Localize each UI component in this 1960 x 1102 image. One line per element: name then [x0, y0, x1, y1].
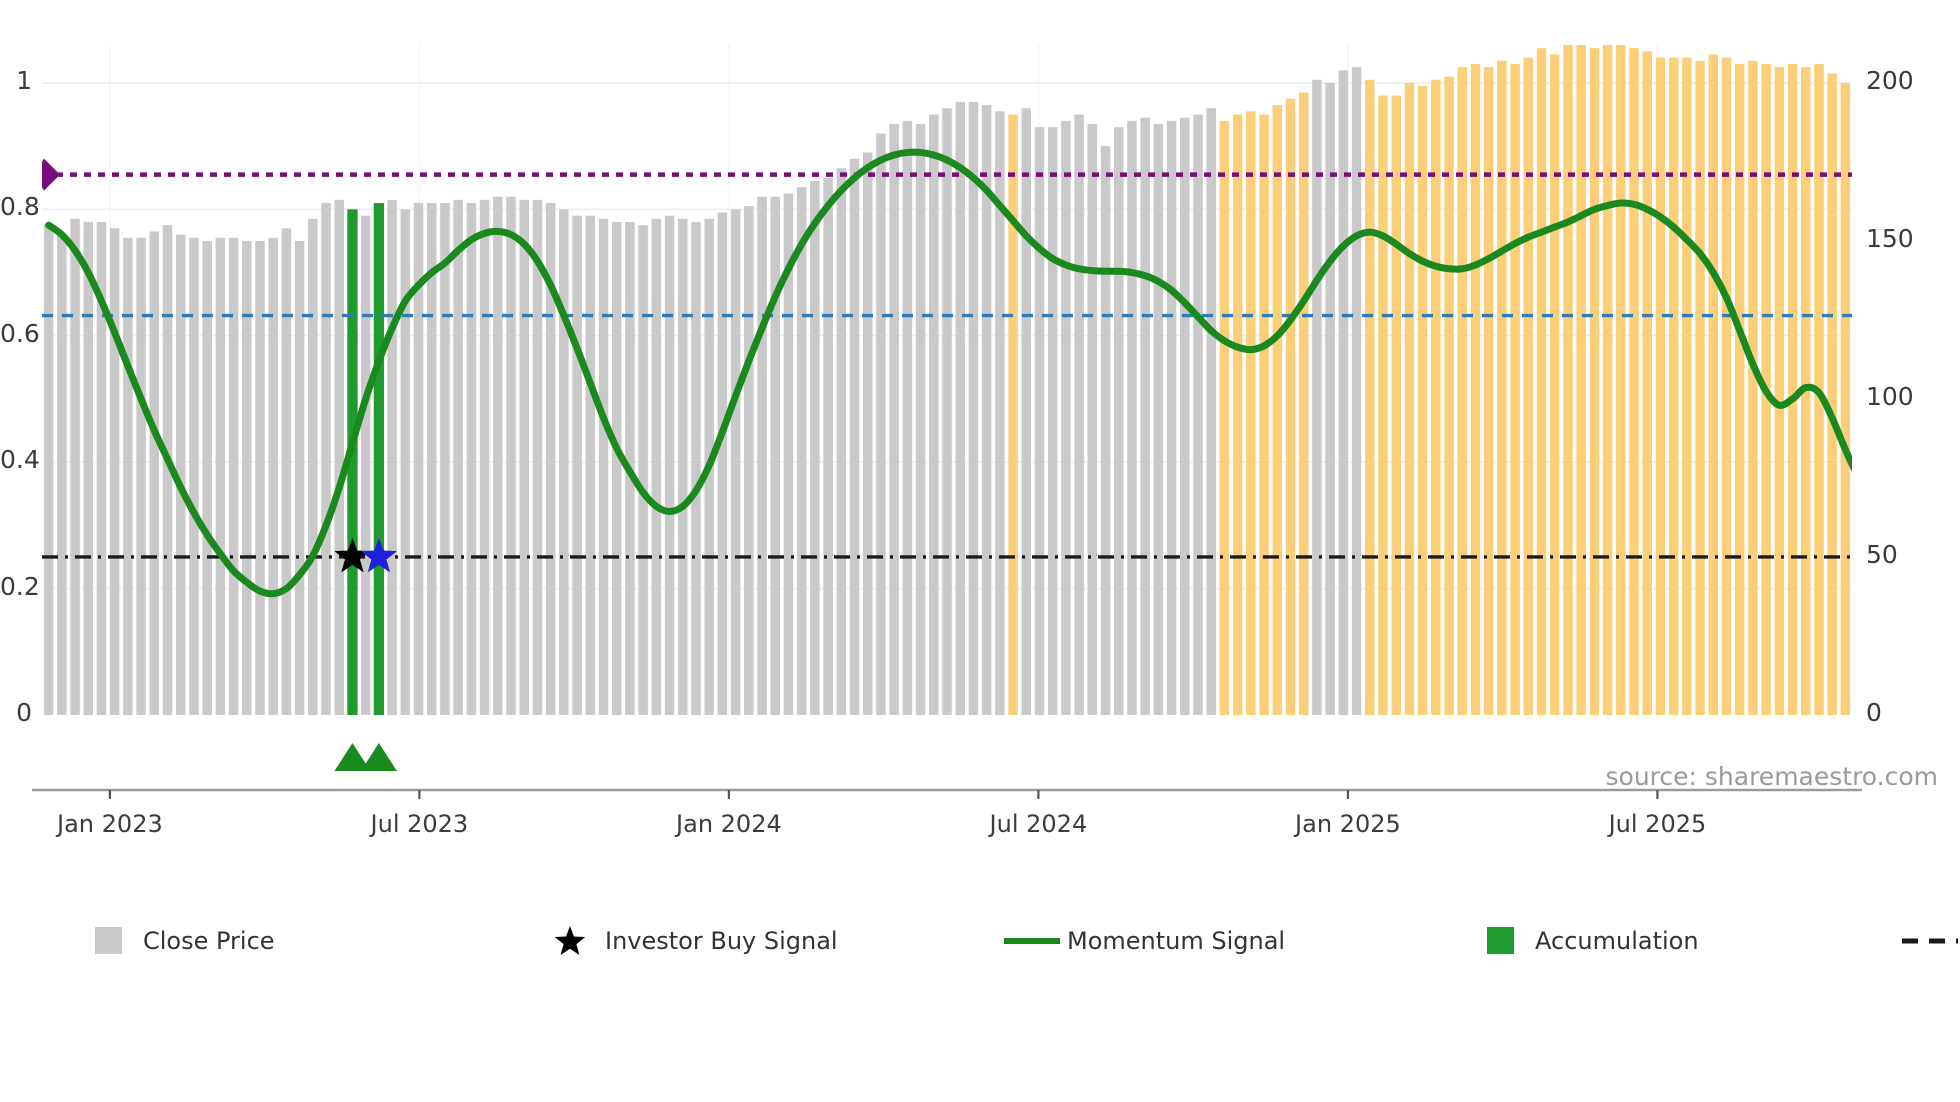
bar-close-price: [823, 178, 833, 715]
bar-close-price: [150, 231, 160, 715]
bar-close-price: [718, 213, 728, 716]
bar-close-price: [612, 222, 622, 715]
bar-close-price: [1154, 124, 1164, 715]
bar-close-price: [1352, 67, 1362, 715]
plot-area: [42, 45, 1852, 715]
bar-dtl-breached: [1497, 61, 1507, 715]
demand-threshold-marker-icon: [42, 159, 60, 191]
bar-close-price: [863, 152, 873, 715]
bar-close-price: [1127, 121, 1137, 715]
y-axis-right-tick: 200: [1866, 66, 1914, 95]
bar-close-price: [955, 102, 965, 715]
bar-close-price: [770, 197, 780, 715]
bar-dtl-breached: [1458, 67, 1468, 715]
y-axis-right-tick: 50: [1866, 540, 1898, 569]
bar-close-price: [1339, 70, 1349, 715]
y-axis-left-tick: 0.8: [0, 192, 32, 221]
bar-close-price: [1088, 124, 1098, 715]
bar-close-price: [903, 121, 913, 715]
accumulation-triangle-icon: [334, 743, 370, 771]
bar-close-price: [361, 216, 371, 715]
bar-close-price: [652, 219, 662, 715]
bar-close-price: [493, 197, 503, 715]
bar-close-price: [70, 219, 80, 715]
bar-close-price: [665, 216, 675, 715]
bar-close-price: [1035, 127, 1045, 715]
bar-close-price: [440, 203, 450, 715]
x-axis-tick-label: Jan 2024: [676, 810, 782, 838]
chart-legend: Close PriceInvestor Buy SignalMomentum S…: [78, 925, 1938, 956]
bar-dtl-breached: [1603, 45, 1613, 715]
bar-close-price: [1325, 83, 1335, 715]
bar-close-price: [586, 216, 596, 715]
bar-close-price: [480, 200, 490, 715]
close-price-bars: [44, 45, 1850, 715]
legend-item[interactable]: Momentum Signal: [1002, 925, 1470, 956]
legend-item[interactable]: Model Watching: [1900, 925, 1960, 956]
bar-close-price: [837, 168, 847, 715]
bar-close-price: [1114, 127, 1124, 715]
bar-close-price: [1206, 108, 1216, 715]
bar-close-price: [744, 206, 754, 715]
bar-close-price: [83, 222, 93, 715]
color-swatch: [95, 927, 122, 954]
bar-close-price: [255, 241, 265, 715]
bar-dtl-breached: [1656, 58, 1666, 715]
legend-item[interactable]: Investor Buy Signal: [540, 925, 1002, 956]
bar-close-price: [123, 238, 133, 715]
bar-dtl-breached: [1510, 64, 1520, 715]
source-note: source: sharemaestro.com: [1606, 762, 1939, 791]
bar-close-price: [387, 200, 397, 715]
bar-close-price: [731, 209, 741, 715]
bar-close-price: [638, 225, 648, 715]
bar-close-price: [110, 228, 120, 715]
bar-close-price: [268, 238, 278, 715]
bar-dtl-breached: [1246, 111, 1256, 715]
bar-close-price: [1193, 115, 1203, 715]
bar-dtl-breached: [1722, 58, 1732, 715]
legend-item[interactable]: Accumulation: [1470, 925, 1900, 956]
y-axis-left-tick: 0.6: [0, 319, 32, 348]
bar-dtl-breached: [1273, 105, 1283, 715]
legend-square-icon: [78, 926, 138, 956]
bar-close-price: [572, 216, 582, 715]
bar-close-price: [691, 222, 701, 715]
legend-line-icon: [1002, 926, 1062, 956]
bar-dtl-breached: [1550, 54, 1560, 715]
y-axis-left-tick: 1: [0, 66, 32, 95]
bar-close-price: [295, 241, 305, 715]
y-axis-right-tick: 100: [1866, 382, 1914, 411]
legend-label: Accumulation: [1530, 927, 1699, 955]
legend-label: Investor Buy Signal: [600, 927, 838, 955]
bar-close-price: [189, 238, 199, 715]
bar-dtl-breached: [1008, 115, 1018, 715]
bar-close-price: [136, 238, 146, 715]
color-swatch: [1487, 927, 1514, 954]
bar-dtl-breached: [1286, 99, 1296, 715]
y-axis-left-tick: 0.2: [0, 572, 32, 601]
bar-close-price: [889, 124, 899, 715]
bar-close-price: [453, 200, 463, 715]
bar-dtl-breached: [1576, 45, 1586, 715]
bar-close-price: [1022, 108, 1032, 715]
bar-close-price: [242, 241, 252, 715]
bar-dtl-breached: [1629, 48, 1639, 715]
bar-dtl-breached: [1695, 61, 1705, 715]
y-axis-right-tick: 0: [1866, 698, 1882, 727]
x-axis-tick-label: Jan 2025: [1295, 810, 1401, 838]
bar-dtl-breached: [1233, 115, 1243, 715]
bar-close-price: [308, 219, 318, 715]
bar-dtl-breached: [1537, 48, 1547, 715]
bar-close-price: [216, 238, 226, 715]
bar-close-price: [810, 181, 820, 715]
bar-close-price: [678, 219, 688, 715]
bar-close-price: [1101, 146, 1111, 715]
chart-canvas: [42, 45, 1852, 715]
bar-dtl-breached: [1259, 115, 1269, 715]
bar-dtl-breached: [1220, 121, 1230, 715]
bar-close-price: [44, 225, 54, 715]
bar-close-price: [506, 197, 516, 715]
bar-close-price: [229, 238, 239, 715]
accumulation-triangle-icon: [361, 743, 397, 771]
x-axis-tick-label: Jan 2023: [57, 810, 163, 838]
bar-close-price: [519, 200, 529, 715]
bar-dtl-breached: [1391, 96, 1401, 715]
bar-close-price: [757, 197, 767, 715]
bar-close-price: [57, 235, 67, 715]
bar-accumulation: [374, 203, 384, 715]
bar-dtl-breached: [1418, 86, 1428, 715]
bar-dtl-breached: [1378, 96, 1388, 715]
x-axis-tick-label: Jul 2023: [371, 810, 469, 838]
legend-item[interactable]: Close Price: [78, 925, 540, 956]
bar-close-price: [321, 203, 331, 715]
bar-dtl-breached: [1299, 92, 1309, 715]
bar-close-price: [533, 200, 543, 715]
bar-dtl-breached: [1405, 83, 1415, 715]
bar-close-price: [599, 219, 609, 715]
bar-dtl-breached: [1484, 67, 1494, 715]
bar-dtl-breached: [1642, 51, 1652, 715]
bar-close-price: [282, 228, 292, 715]
legend-dashed-line-icon: [1900, 926, 1960, 956]
bar-dtl-breached: [1827, 73, 1837, 715]
bar-dtl-breached: [1748, 61, 1758, 715]
bar-dtl-breached: [1682, 58, 1692, 715]
bar-dtl-breached: [1841, 83, 1851, 715]
bar-dtl-breached: [1788, 64, 1798, 715]
bar-close-price: [797, 187, 807, 715]
bar-close-price: [1061, 121, 1071, 715]
y-axis-left-tick: 0: [0, 698, 32, 727]
bar-dtl-breached: [1471, 64, 1481, 715]
x-axis-tick-label: Jul 2025: [1609, 810, 1707, 838]
bar-dtl-breached: [1616, 45, 1626, 715]
legend-square-icon: [1470, 926, 1530, 956]
bar-close-price: [1167, 121, 1177, 715]
x-axis-tick-label: Jul 2024: [990, 810, 1088, 838]
bar-close-price: [202, 241, 212, 715]
bar-close-price: [1074, 115, 1084, 715]
legend-label: Momentum Signal: [1062, 927, 1285, 955]
y-axis-right-tick: 150: [1866, 224, 1914, 253]
legend-star-icon: [540, 926, 600, 956]
bar-dtl-breached: [1524, 58, 1534, 715]
bar-close-price: [467, 203, 477, 715]
chart-root: 00.20.40.60.81 050100150200 Jan 2023Jul …: [0, 0, 1960, 1102]
bar-close-price: [929, 115, 939, 715]
bar-dtl-breached: [1735, 64, 1745, 715]
bar-close-price: [559, 209, 569, 715]
bar-close-price: [1048, 127, 1058, 715]
y-axis-left-tick: 0.4: [0, 445, 32, 474]
bar-dtl-breached: [1563, 45, 1573, 715]
bar-close-price: [916, 124, 926, 715]
bar-close-price: [876, 133, 886, 715]
bar-dtl-breached: [1709, 54, 1719, 715]
bar-close-price: [1140, 118, 1150, 715]
bar-dtl-breached: [1775, 67, 1785, 715]
bar-close-price: [335, 200, 345, 715]
bar-close-price: [850, 159, 860, 715]
bar-close-price: [969, 102, 979, 715]
bar-dtl-breached: [1590, 48, 1600, 715]
legend-label: Close Price: [138, 927, 275, 955]
bar-dtl-breached: [1669, 58, 1679, 715]
bar-close-price: [942, 108, 952, 715]
bar-close-price: [1180, 118, 1190, 715]
bar-close-price: [401, 209, 411, 715]
